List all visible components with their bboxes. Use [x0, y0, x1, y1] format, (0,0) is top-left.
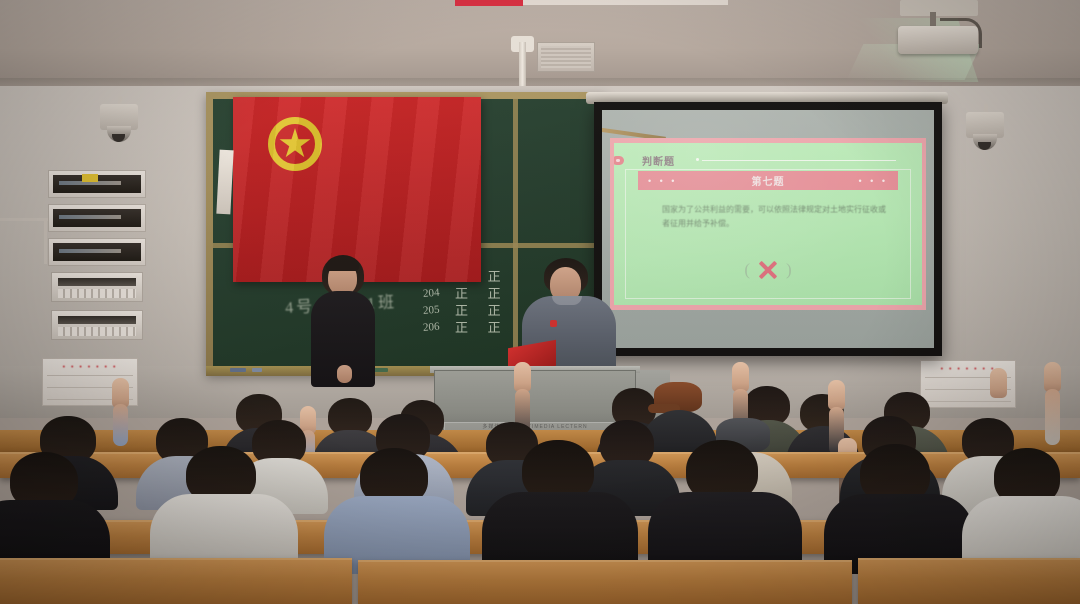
breaker-box [51, 272, 143, 302]
chalk-piece [252, 368, 262, 372]
tally-room: 205 [423, 303, 448, 317]
answer-cross-icon [757, 259, 779, 281]
question-banner: • • • 第七题 • • • [638, 171, 898, 190]
electrical-panel [48, 238, 146, 266]
slide-tab-marker [614, 156, 624, 165]
tally-room: 206 [423, 320, 448, 334]
answer-paren-right: ) [786, 260, 792, 280]
projection-screen: 判断题 • • • 第七题 • • • 国家为了公共利益的需要，可以依照法律规定… [594, 102, 942, 356]
wall-rack-label: • • • • • • • [49, 364, 131, 371]
red-banner-strip [455, 0, 523, 6]
projector-mount-plate [900, 0, 978, 16]
flag-star-icon [279, 128, 311, 160]
banner-dots-left: • • • [648, 176, 677, 186]
electrical-panel-stack [48, 170, 146, 348]
wall-conduit [44, 218, 47, 264]
chalk-piece [230, 368, 246, 372]
banner-dots-right: • • • [859, 176, 888, 186]
tally-room: 204 [423, 286, 448, 300]
table-row: 204 正 正 [423, 284, 509, 301]
answer-paren-left: ( [744, 260, 750, 280]
slide-kicker: 判断题 [642, 153, 675, 168]
slide-rule [702, 160, 896, 161]
question-body-text: 国家为了公共利益的需要，可以依照法律规定对土地实行征收或者征用并给予补偿。 [662, 203, 886, 231]
tally-marks: 正 正 [455, 317, 509, 336]
quiz-slide: 判断题 • • • 第七题 • • • 国家为了公共利益的需要，可以依照法律规定… [610, 138, 926, 310]
ceiling-projector [898, 26, 978, 54]
white-banner-strip [523, 0, 728, 5]
breaker-box [51, 310, 143, 340]
classroom-scene: • • • • • • • • • • • • • • 4号 教室 1班 203… [0, 0, 1080, 604]
table-row: 206 正 正 [423, 318, 509, 335]
ceiling-vent [537, 42, 595, 72]
bench-back [858, 558, 1080, 604]
flag-ring-icon [268, 117, 322, 171]
bench-back [0, 558, 352, 604]
table-row: 205 正 正 [423, 301, 509, 318]
presenter-female [306, 255, 380, 385]
slide-rule-dot [696, 158, 699, 161]
badge-pin-icon [550, 320, 557, 327]
answer-area: ( ) [614, 259, 922, 281]
bench-back [358, 560, 852, 604]
electrical-panel [48, 204, 146, 232]
question-number-title: 第七题 [752, 173, 785, 188]
